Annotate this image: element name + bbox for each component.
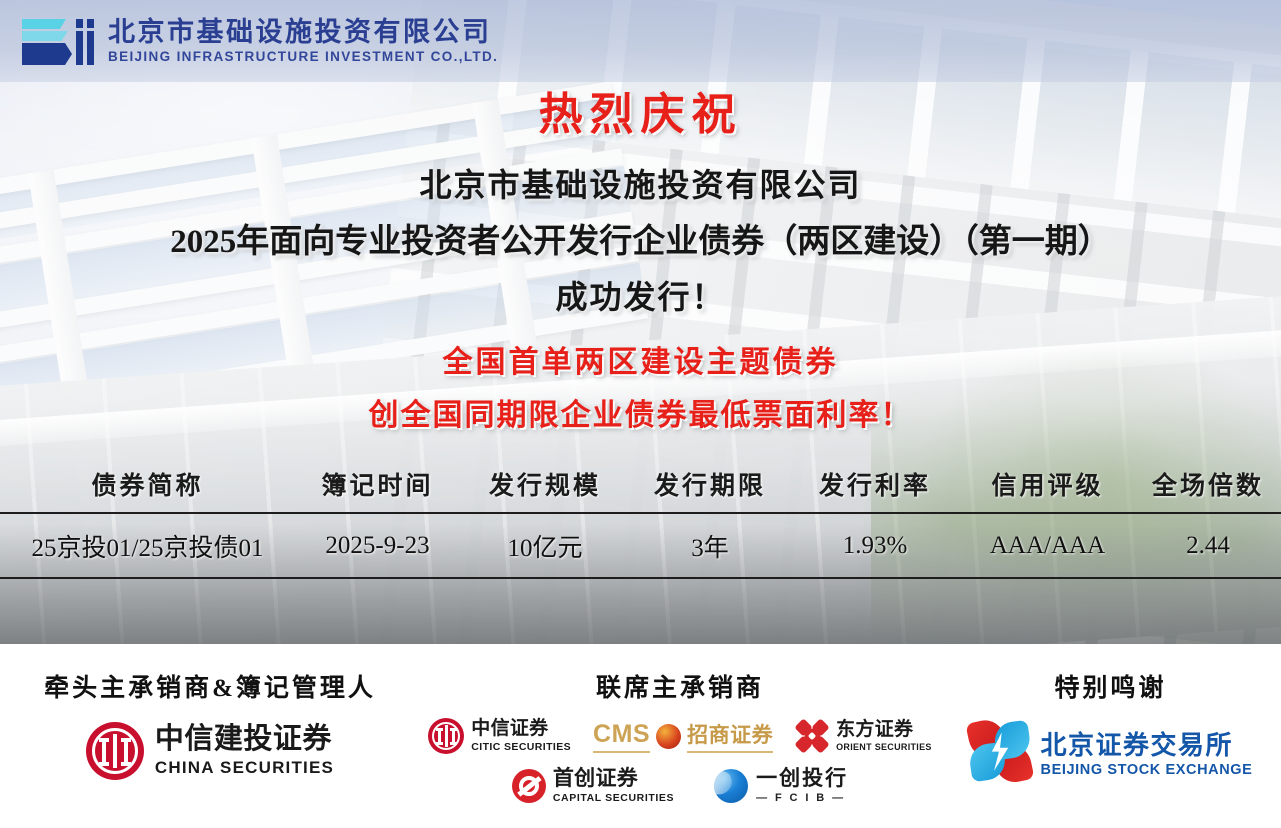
fcib-name-cn: 一创投行 — [756, 768, 848, 790]
column-header-subscription-multiple: 全场倍数 — [1135, 462, 1281, 513]
citic-securities-roundel-icon — [86, 722, 144, 780]
capital-securities-ring-icon — [512, 769, 546, 803]
table-header-row: 债券简称 簿记时间 发行规模 发行期限 发行利率 信用评级 全场倍数 — [0, 462, 1281, 513]
company-name-en: BEIJING INFRASTRUCTURE INVESTMENT CO.,LT… — [108, 49, 498, 64]
china-securities-logo: 中信建投证券 CHINA SECURITIES — [86, 722, 334, 780]
citic-securities-logo: 中信证券 CITIC SECURITIES — [428, 718, 571, 754]
celebration-poster: 北京市基础设施投资有限公司 BEIJING INFRASTRUCTURE INV… — [0, 0, 1281, 828]
citic-securities-roundel-icon — [428, 718, 464, 754]
cms-roundel-icon — [656, 724, 681, 749]
lead-underwriter-section: 牵头主承销商&簿记管理人 中信建投证券 CHI — [0, 644, 420, 828]
joint-underwriters-row-2: 首创证券 CAPITAL SECURITIES 一创投行 — F C I B — — [420, 768, 940, 804]
column-header-coupon-rate: 发行利率 — [790, 462, 960, 513]
special-thanks-logos: 北京证券交易所 BEIJING STOCK EXCHANGE — [940, 720, 1281, 782]
success-text: 成功发行！ — [0, 272, 1281, 318]
cms-abbreviation: CMS — [593, 720, 650, 753]
china-securities-name-en: CHINA SECURITIES — [155, 758, 334, 778]
fcib-globe-icon — [714, 769, 748, 803]
fcib-name-en: — F C I B — — [756, 792, 848, 804]
orient-securities-name-en: ORIENT SECURITIES — [836, 742, 932, 752]
china-securities-name-cn: 中信建投证券 — [155, 724, 334, 754]
column-header-credit-rating: 信用评级 — [960, 462, 1135, 513]
cell-bond-name: 25京投01/25京投债01 — [0, 513, 295, 578]
bond-name: 2025年面向专业投资者公开发行企业债券（两区建设）（第一期） — [0, 214, 1281, 262]
company-name-cn: 北京市基础设施投资有限公司 — [108, 18, 498, 46]
capital-securities-logo: 首创证券 CAPITAL SECURITIES — [512, 768, 674, 804]
citic-securities-name-en: CITIC SECURITIES — [471, 741, 571, 753]
column-header-bond-name: 债券简称 — [0, 462, 295, 513]
orient-securities-diamond-icon — [795, 719, 829, 753]
lead-underwriter-caption: 牵头主承销商&簿记管理人 — [0, 644, 420, 704]
highlight-line-1: 全国首单两区建设主题债券 — [0, 337, 1281, 381]
column-header-tenor: 发行期限 — [630, 462, 790, 513]
poster-header-bar: 北京市基础设施投资有限公司 BEIJING INFRASTRUCTURE INV… — [0, 0, 1281, 82]
celebrate-title: 热烈庆祝 — [0, 78, 1281, 142]
capital-securities-name-en: CAPITAL SECURITIES — [553, 792, 674, 804]
orient-securities-logo: 东方证券 ORIENT SECURITIES — [795, 719, 932, 753]
cell-subscription-multiple: 2.44 — [1135, 513, 1281, 578]
lead-underwriter-logos: 中信建投证券 CHINA SECURITIES — [0, 722, 420, 780]
bse-name-en: BEIJING STOCK EXCHANGE — [1041, 762, 1253, 778]
cell-credit-rating: AAA/AAA — [960, 513, 1135, 578]
joint-underwriters-caption: 联席主承销商 — [420, 644, 940, 704]
table-row: 25京投01/25京投债01 2025-9-23 10亿元 3年 1.93% A… — [0, 513, 1281, 578]
bii-logo-icon — [22, 17, 94, 65]
capital-securities-name-cn: 首创证券 — [553, 768, 674, 790]
highlight-line-2: 创全国同期限企业债券最低票面利率！ — [0, 390, 1281, 434]
bond-details-table: 债券简称 簿记时间 发行规模 发行期限 发行利率 信用评级 全场倍数 25京投0… — [0, 462, 1281, 579]
orient-securities-name-cn: 东方证券 — [836, 720, 932, 740]
beijing-stock-exchange-logo: 北京证券交易所 BEIJING STOCK EXCHANGE — [969, 720, 1253, 782]
bse-name-cn: 北京证券交易所 — [1041, 725, 1253, 762]
cell-coupon-rate: 1.93% — [790, 513, 960, 578]
cell-issue-size: 10亿元 — [460, 513, 630, 578]
joint-underwriters-section: 联席主承销商 中信证券 C — [420, 644, 940, 828]
citic-securities-name-cn: 中信证券 — [471, 719, 571, 739]
column-header-booking-date: 簿记时间 — [295, 462, 460, 513]
poster-footer: 牵头主承销商&簿记管理人 中信建投证券 CHI — [0, 644, 1281, 828]
issuer-name: 北京市基础设施投资有限公司 — [0, 160, 1281, 206]
special-thanks-section: 特别鸣谢 北京证券交易所 BEIJING STOCK EXCHANGE — [940, 644, 1281, 828]
company-logo: 北京市基础设施投资有限公司 BEIJING INFRASTRUCTURE INV… — [22, 17, 498, 65]
cell-tenor: 3年 — [630, 513, 790, 578]
joint-underwriters-row-1: 中信证券 CITIC SECURITIES CMS 招商证券 — [420, 718, 940, 754]
cms-logo: CMS 招商证券 — [593, 719, 773, 753]
special-thanks-caption: 特别鸣谢 — [940, 644, 1281, 704]
cell-booking-date: 2025-9-23 — [295, 513, 460, 578]
column-header-issue-size: 发行规模 — [460, 462, 630, 513]
cms-name-cn: 招商证券 — [687, 719, 773, 753]
fcib-logo: 一创投行 — F C I B — — [714, 768, 848, 804]
beijing-stock-exchange-swirl-icon — [969, 720, 1031, 782]
